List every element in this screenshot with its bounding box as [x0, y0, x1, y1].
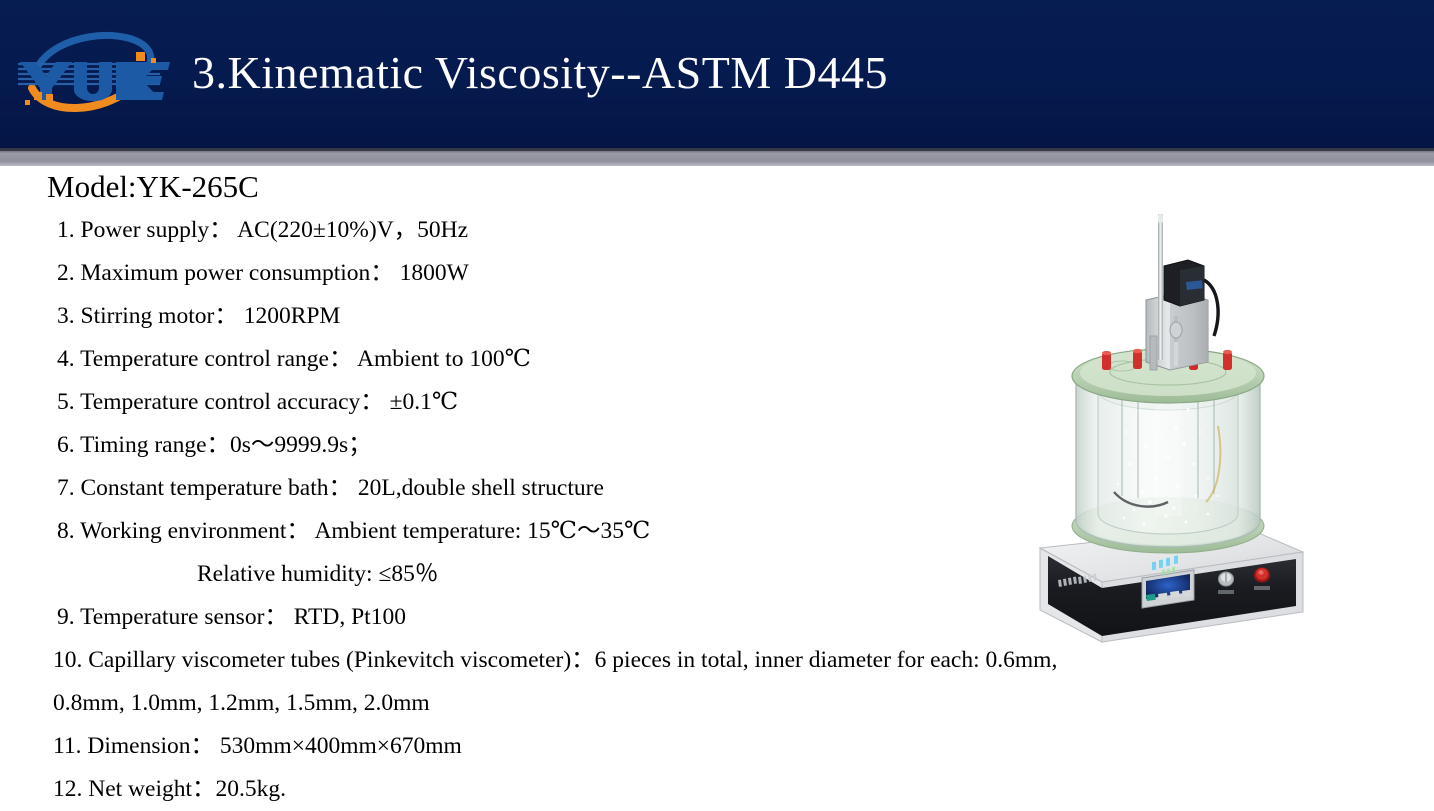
viscosity-bath-illustration [1018, 196, 1318, 656]
stirring-motor-assembly[interactable] [1146, 214, 1218, 370]
constant-temperature-bath [1072, 349, 1264, 553]
motor-label [1186, 280, 1203, 290]
power-button[interactable] [1254, 568, 1270, 583]
speed-knob[interactable] [1219, 572, 1234, 586]
stopper [1133, 349, 1142, 369]
product-photo [1018, 196, 1318, 656]
header-underline-band [0, 148, 1434, 166]
model-line: Model:YK-265C [47, 167, 259, 207]
spec-item: 12. Net weight：20.5kg. [0, 768, 1200, 811]
power-button-label [1254, 586, 1270, 590]
stopper [1102, 351, 1111, 370]
speed-knob-label [1218, 590, 1234, 594]
spec-item-continuation: 0.8mm, 1.0mm, 1.2mm, 1.5mm, 2.0mm [0, 682, 1200, 725]
yuke-logo [10, 22, 180, 122]
motor-bracket [1150, 336, 1157, 370]
page-title: 3.Kinematic Viscosity--ASTM D445 [192, 42, 888, 104]
spec-item: 11. Dimension： 530mm×400mm×670mm [0, 725, 1200, 768]
stirrer-shaft [1158, 214, 1163, 360]
stopper [1223, 350, 1232, 370]
yuke-logo-mark [10, 22, 180, 122]
